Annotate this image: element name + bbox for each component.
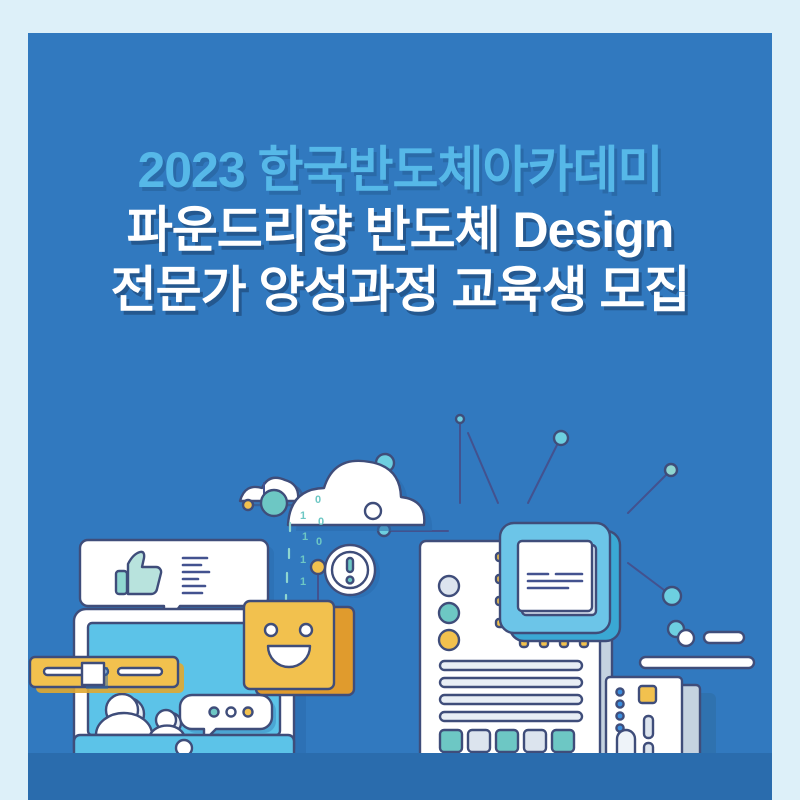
svg-text:1: 1 bbox=[302, 531, 308, 543]
svg-text:1: 1 bbox=[300, 576, 306, 588]
floating-dashes bbox=[640, 630, 754, 668]
square-dot bbox=[82, 663, 104, 685]
floor-band-dark bbox=[28, 753, 772, 800]
rain-drops bbox=[286, 523, 290, 604]
cpu-chip bbox=[496, 523, 620, 647]
poster-root: 2023 한국반도체아카데미 파운드리향 반도체 Design 전문가 양성과정… bbox=[0, 0, 800, 800]
svg-text:0: 0 bbox=[318, 516, 324, 528]
warning-badge bbox=[325, 545, 380, 598]
svg-text:0: 0 bbox=[316, 536, 322, 548]
poster-panel: 2023 한국반도체아카데미 파운드리향 반도체 Design 전문가 양성과정… bbox=[28, 33, 772, 800]
svg-text:1: 1 bbox=[300, 554, 306, 566]
svg-text:1: 1 bbox=[300, 510, 306, 522]
cloud bbox=[243, 461, 432, 531]
svg-text:0: 0 bbox=[315, 494, 321, 506]
illustration: .o { stroke:#3f4d7a; stroke-width:2.4; s… bbox=[28, 33, 772, 800]
